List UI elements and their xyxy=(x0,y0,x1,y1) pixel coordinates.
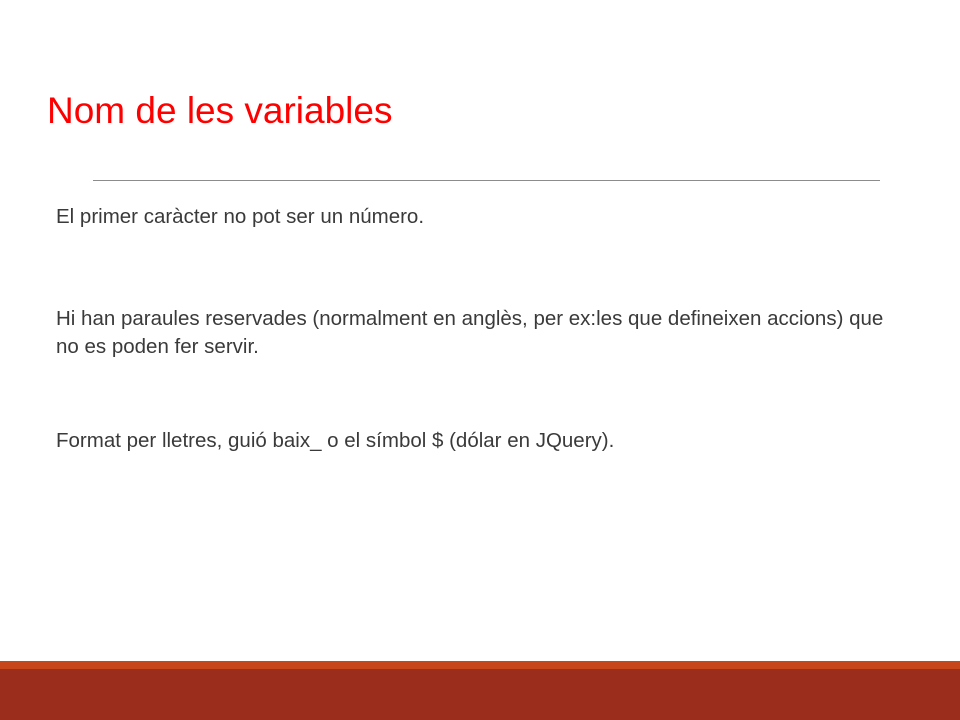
body-paragraph-1: El primer caràcter no pot ser un número. xyxy=(56,203,901,231)
title-divider xyxy=(93,180,880,181)
paragraph-spacer xyxy=(56,231,901,305)
paragraph-spacer xyxy=(56,361,901,427)
footer-band xyxy=(0,669,960,720)
page-title: Nom de les variables xyxy=(47,88,392,134)
body-paragraph-2: Hi han paraules reservades (normalment e… xyxy=(56,305,901,361)
footer-accent-stripe xyxy=(0,661,960,669)
slide-body: El primer caràcter no pot ser un número.… xyxy=(56,203,901,455)
body-paragraph-3: Format per lletres, guió baix_ o el símb… xyxy=(56,427,901,455)
presentation-slide: Nom de les variables El primer caràcter … xyxy=(0,0,960,720)
